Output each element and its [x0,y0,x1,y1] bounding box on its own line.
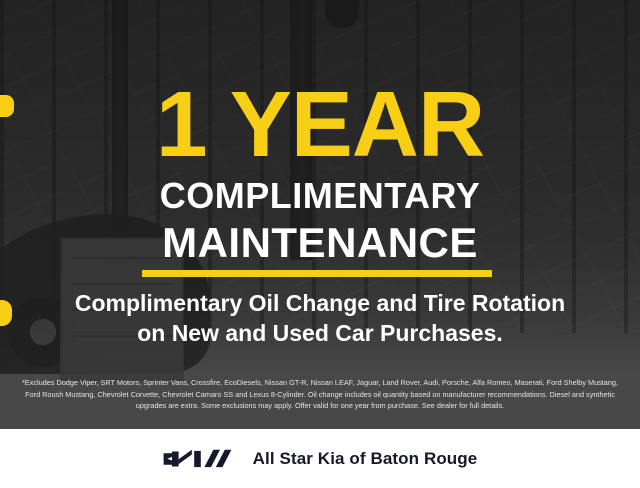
yellow-divider-rule [142,270,492,277]
headline-complimentary: COMPLIMENTARY [0,177,640,215]
offer-description-line-1: Complimentary Oil Change and Tire Rotati… [26,288,614,318]
dealer-name: All Star Kia of Baton Rouge [253,449,478,469]
hero-section: 1 YEAR COMPLIMENTARY MAINTENANCE Complim… [0,0,640,429]
headline-duration: 1 YEAR [0,78,640,171]
kia-logo [163,447,235,471]
offer-description: Complimentary Oil Change and Tire Rotati… [26,288,614,348]
disclaimer-text: *Excludes Dodge Viper, SRT Motors, Sprin… [18,377,622,412]
promo-banner: 1 YEAR COMPLIMENTARY MAINTENANCE Complim… [0,0,640,488]
offer-description-line-2: on New and Used Car Purchases. [26,318,614,348]
footer-bar: All Star Kia of Baton Rouge [0,429,640,488]
headline-maintenance: MAINTENANCE [0,221,640,265]
hero-copy: 1 YEAR COMPLIMENTARY MAINTENANCE Complim… [0,0,640,429]
